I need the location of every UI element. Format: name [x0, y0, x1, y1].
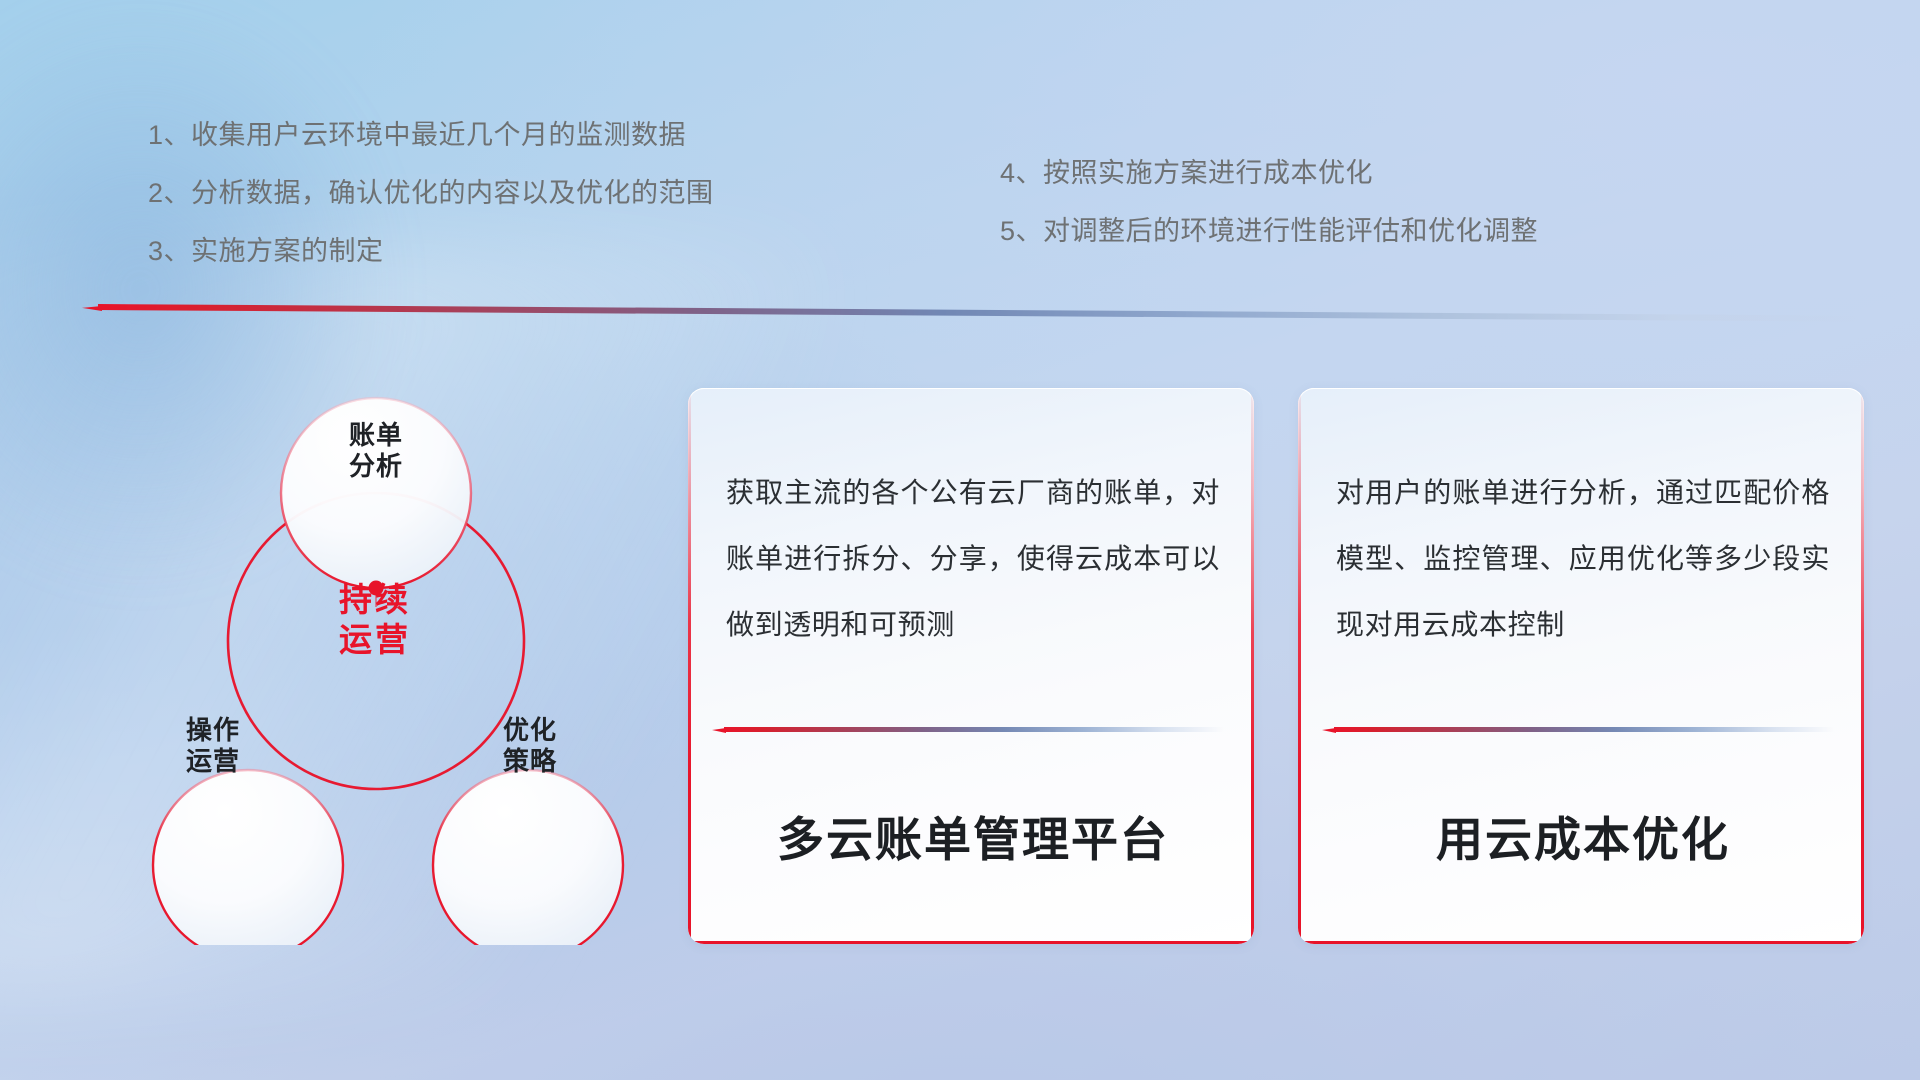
card-accent-right: [1251, 388, 1254, 944]
section-divider: [98, 302, 1858, 324]
card-accent-bottom: [1298, 941, 1864, 944]
continuous-operation-diagram: 账单 分析 操作 运营 优化 策略 持续 运营: [90, 345, 650, 945]
node-circle-bill-analysis: [281, 398, 471, 588]
card-accent-left: [688, 388, 691, 944]
step-item-4: 4、按照实施方案进行成本优化: [1000, 160, 1538, 187]
diagram-svg: [90, 345, 650, 945]
slide-canvas: 1、收集用户云环境中最近几个月的监测数据 2、分析数据，确认优化的内容以及优化的…: [0, 0, 1920, 1080]
node-circle-optimization: [433, 770, 623, 945]
info-card-cloud-cost-optimization[interactable]: 对用户的账单进行分析，通过匹配价格模型、监控管理、应用优化等多少段实现对用云成本…: [1298, 388, 1864, 944]
steps-right-column: 4、按照实施方案进行成本优化 5、对调整后的环境进行性能评估和优化调整: [1000, 160, 1538, 276]
card-title: 用云成本优化: [1336, 801, 1830, 870]
card-accent-bottom: [688, 941, 1254, 944]
card-divider: [1334, 726, 1834, 733]
step-item-5: 5、对调整后的环境进行性能评估和优化调整: [1000, 218, 1538, 245]
card-accent-left: [1298, 388, 1301, 944]
card-divider-bar: [724, 727, 1224, 732]
card-description: 对用户的账单进行分析，通过匹配价格模型、监控管理、应用优化等多少段实现对用云成本…: [1336, 460, 1830, 657]
step-item-1: 1、收集用户云环境中最近几个月的监测数据: [148, 122, 714, 149]
card-accent-right: [1861, 388, 1864, 944]
card-title: 多云账单管理平台: [726, 801, 1220, 870]
card-divider-bar: [1334, 727, 1834, 732]
divider-bar: [98, 304, 1858, 322]
card-description: 获取主流的各个公有云厂商的账单，对账单进行拆分、分享，使得云成本可以做到透明和可…: [726, 460, 1220, 657]
card-divider: [724, 726, 1224, 733]
connector-dot-top: [369, 581, 384, 608]
step-item-2: 2、分析数据，确认优化的内容以及优化的范围: [148, 180, 714, 207]
step-item-3: 3、实施方案的制定: [148, 238, 714, 265]
steps-left-column: 1、收集用户云环境中最近几个月的监测数据 2、分析数据，确认优化的内容以及优化的…: [148, 122, 714, 296]
info-card-multi-cloud-billing-platform[interactable]: 获取主流的各个公有云厂商的账单，对账单进行拆分、分享，使得云成本可以做到透明和可…: [688, 388, 1254, 944]
node-circle-operations: [153, 770, 343, 945]
